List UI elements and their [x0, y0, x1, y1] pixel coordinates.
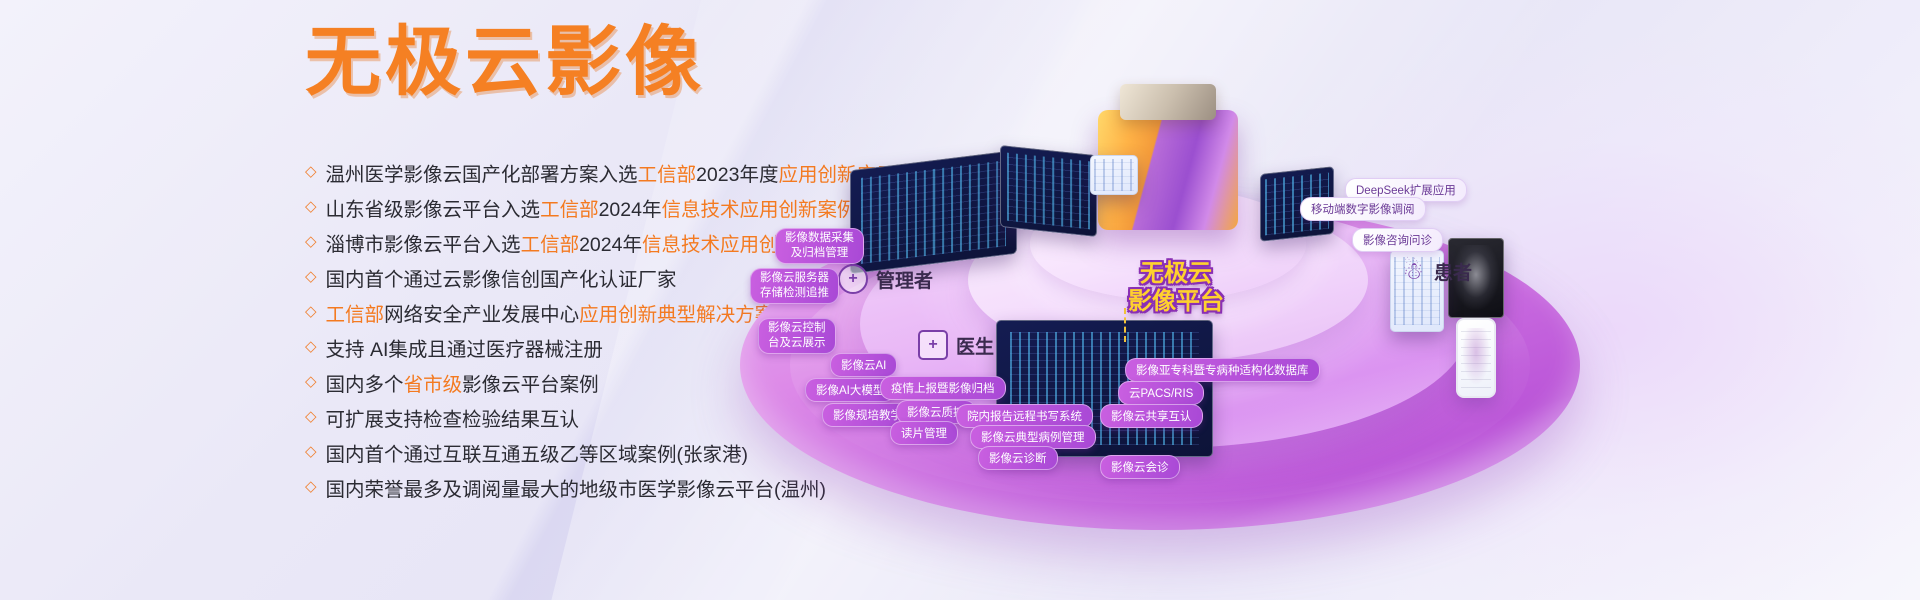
pill-line: 存储检测追推 [760, 286, 829, 301]
diamond-bullet-icon: ◇ [305, 232, 317, 250]
diamond-bullet-icon: ◇ [305, 477, 317, 495]
plain-text: 网络安全产业发展中心 [384, 304, 579, 326]
diamond-bullet-icon: ◇ [305, 302, 317, 320]
highlight-text: 工信部 [540, 199, 599, 221]
pill-label-bottom[interactable]: 影像云会诊 [1100, 455, 1180, 479]
pill-line: 影像云服务器 [760, 271, 829, 286]
pill-label-bottom[interactable]: 影像云共享互认 [1100, 404, 1203, 428]
pill-line: 台及云展示 [768, 336, 826, 351]
highlight-text: 工信部 [638, 164, 697, 186]
pill-label-left[interactable]: 影像云控制台及云展示 [758, 318, 836, 354]
diamond-bullet-icon: ◇ [305, 267, 317, 285]
highlight-text: 省市级 [404, 374, 463, 396]
pill-label-bottom[interactable]: 疫情上报暨影像归档 [880, 376, 1006, 400]
pill-line: 影像数据采集 [785, 231, 854, 246]
plain-text: 影像云平台案例 [462, 374, 599, 396]
diamond-bullet-icon: ◇ [305, 407, 317, 425]
role-patient[interactable]: ☃ 患者 [1400, 258, 1472, 285]
pill-line: 影像云控制 [768, 321, 826, 336]
center-label-line2: 影像平台 [1086, 288, 1266, 316]
highlight-text: 工信部 [326, 304, 385, 326]
small-screen [1090, 155, 1138, 195]
promo-banner: 无极云影像 ◇温州医学影像云国产化部署方案入选工信部2023年度应用创新应用示范… [0, 0, 1920, 600]
diamond-bullet-icon: ◇ [305, 162, 317, 180]
highlight-text: 工信部 [521, 234, 580, 256]
feature-text: 支持 AI集成且通过医疗器械注册 [326, 333, 603, 362]
plain-text: 国内多个 [326, 374, 404, 396]
pill-label-right[interactable]: 影像咨询问诊 [1352, 228, 1443, 252]
platform-diagram: + 管理者 + 医生 ☃ 患者 无极云 影像平台 影像数据采集及归档管理影像云服… [700, 0, 1920, 600]
pill-label-left[interactable]: 影像云服务器存储检测追推 [750, 268, 839, 304]
plain-text: 温州医学影像云国产化部署方案入选 [326, 164, 638, 186]
plain-text: 支持 AI集成且通过医疗器械注册 [326, 339, 603, 361]
feature-text: 可扩展支持检查检验结果互认 [326, 403, 580, 432]
plain-text: 国内首个通过云影像信创国产化认证厂家 [326, 269, 677, 291]
role-label-administrator: 管理者 [876, 266, 933, 293]
monitor-screen [1000, 145, 1097, 237]
diamond-bullet-icon: ◇ [305, 442, 317, 460]
hospital-icon: + [918, 330, 948, 360]
diamond-bullet-icon: ◇ [305, 197, 317, 215]
connector-line [1124, 308, 1126, 342]
pill-label-bottom[interactable]: 影像云诊断 [978, 446, 1058, 470]
role-label-patient: 患者 [1434, 258, 1472, 285]
page-title: 无极云影像 [305, 22, 705, 102]
pill-label-bottom[interactable]: 读片管理 [890, 421, 958, 445]
role-administrator[interactable]: + 管理者 [838, 264, 933, 294]
dashboard-screen [850, 150, 1017, 275]
pill-label-right[interactable]: 移动端数字影像调阅 [1300, 197, 1426, 221]
plain-text: 国内首个通过互联互通五级乙等区域案例(张家港) [326, 444, 749, 466]
plain-text: 2024年 [599, 199, 662, 221]
pill-label-bottom[interactable]: 影像亚专科暨专病种适构化数据库 [1125, 358, 1320, 382]
pill-line: 及归档管理 [791, 246, 849, 261]
role-label-doctor: 医生 [956, 332, 994, 359]
center-label-line1: 无极云 [1086, 260, 1266, 288]
plain-text: 山东省级影像云平台入选 [326, 199, 541, 221]
pill-label-bottom[interactable]: 影像云AI [830, 353, 897, 377]
role-doctor[interactable]: + 医生 [918, 330, 994, 360]
plain-text: 2024年 [579, 234, 642, 256]
pill-label-left[interactable]: 影像数据采集及归档管理 [775, 228, 864, 264]
plus-circle-icon: + [838, 264, 868, 294]
pill-label-bottom[interactable]: 云PACS/RIS [1118, 381, 1204, 405]
person-icon: ☃ [1400, 259, 1426, 285]
feature-text: 国内首个通过互联互通五级乙等区域案例(张家港) [326, 438, 749, 467]
feature-text: 国内多个省市级影像云平台案例 [326, 368, 599, 397]
mobile-phone-screen [1456, 318, 1496, 398]
diamond-bullet-icon: ◇ [305, 337, 317, 355]
tower-top [1120, 84, 1216, 120]
plain-text: 淄博市影像云平台入选 [326, 234, 521, 256]
plain-text: 可扩展支持检查检验结果互认 [326, 409, 580, 431]
diamond-bullet-icon: ◇ [305, 372, 317, 390]
feature-text: 国内首个通过云影像信创国产化认证厂家 [326, 263, 677, 292]
center-platform-label: 无极云 影像平台 [1086, 260, 1266, 316]
